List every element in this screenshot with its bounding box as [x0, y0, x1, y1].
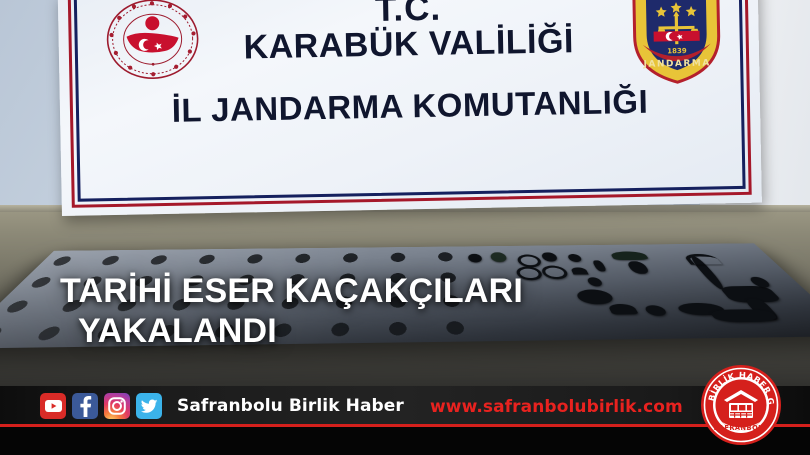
twitter-icon[interactable] — [136, 393, 162, 419]
headline-line-1: TARİHİ ESER KAÇAKÇILARI — [60, 272, 620, 312]
headline-line-2: YAKALANDI — [60, 312, 620, 352]
news-photo-card: 1839 JANDARMA T.C. KARABÜK VALİLİĞİ İL J… — [0, 0, 810, 455]
sign-line-unit: İL JANDARMA KOMUTANLIĞI — [84, 81, 737, 132]
svg-text:SAFRANBOLU: SAFRANBOLU — [713, 424, 768, 432]
sign-content: 1839 JANDARMA T.C. KARABÜK VALİLİĞİ İL J… — [82, 0, 738, 194]
instagram-icon[interactable] — [104, 393, 130, 419]
jandarma-sign-board: 1839 JANDARMA T.C. KARABÜK VALİLİĞİ İL J… — [58, 0, 762, 216]
svg-text:JANDARMA: JANDARMA — [643, 59, 711, 70]
photograph: 1839 JANDARMA T.C. KARABÜK VALİLİĞİ İL J… — [0, 0, 810, 430]
social-links — [40, 393, 162, 419]
newspaper-logo: BİRLİK HABER GAZETESİ SAFRANBOLU — [700, 364, 782, 446]
brand-name: Safranbolu Birlik Haber — [177, 396, 404, 416]
headline-overlay: TARİHİ ESER KAÇAKÇILARI YAKALANDI — [60, 272, 620, 352]
footer-bottom-area — [0, 427, 810, 455]
website-url[interactable]: www.safranbolubirlik.com — [430, 397, 683, 417]
youtube-icon[interactable] — [40, 393, 66, 419]
facebook-icon[interactable] — [72, 393, 98, 419]
